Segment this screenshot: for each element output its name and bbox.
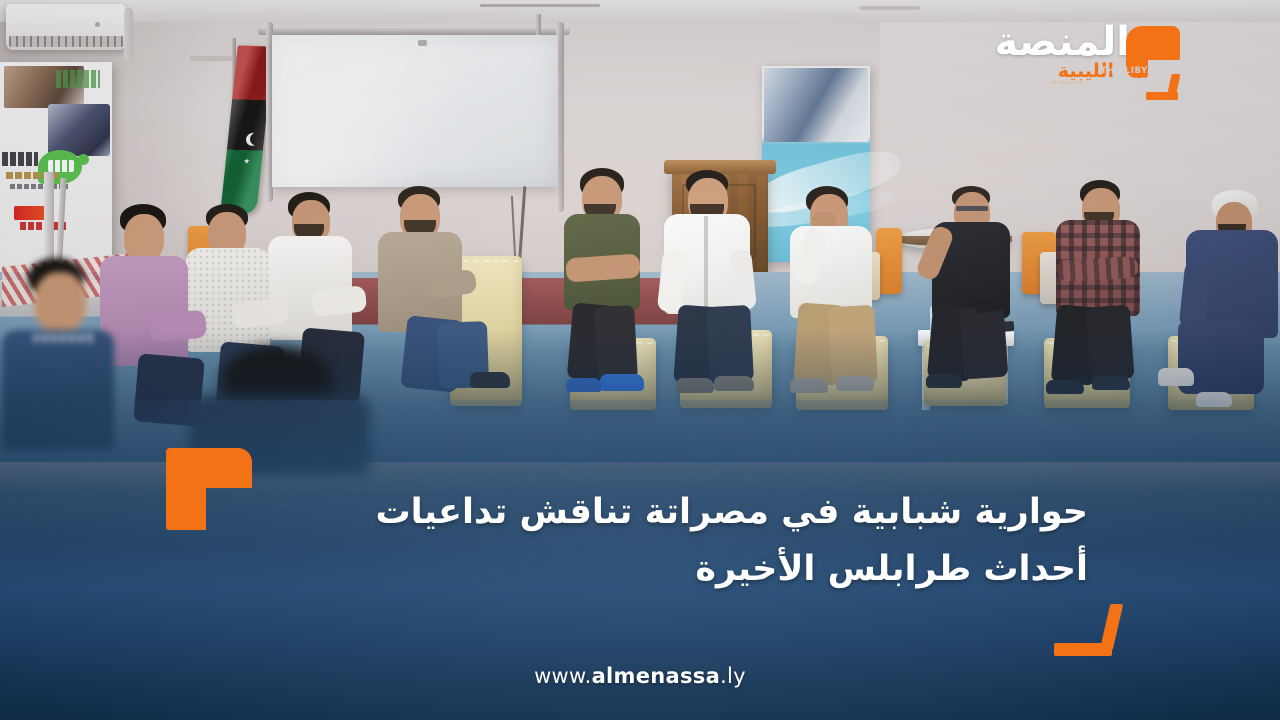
bracket-base-stroke (1054, 643, 1112, 656)
air-conditioner-icon (6, 4, 126, 50)
website-url[interactable]: www.almenassa.ly (0, 664, 1280, 688)
banner-photo-mid (48, 104, 110, 156)
ceiling-rail (480, 4, 600, 7)
alo-libya-banner (0, 62, 112, 274)
logo-latin-subtitle: THE LIBYAN PLATFORM (1101, 66, 1162, 87)
screen-glare (272, 35, 558, 187)
banner-stand-pole (44, 172, 54, 272)
logo-arabic-wordmark: المنصة (994, 22, 1130, 62)
ac-grill (9, 36, 123, 47)
bracket-vertical-stroke (166, 448, 206, 530)
screen-top-bar (258, 26, 570, 35)
ac-pipe (124, 8, 133, 60)
eyeglasses-icon (956, 206, 988, 211)
banner-arabic-title (2, 152, 38, 166)
ac-indicator-light (95, 22, 100, 27)
brand-logo[interactable]: المنصة الليبية THE LIBYAN PLATFORM almen… (1000, 16, 1178, 108)
ceiling-rail-2 (860, 6, 920, 10)
url-tld: .ly (720, 664, 746, 688)
screen-clip (418, 40, 427, 46)
headline-text: حوارية شبابية في مصراتة تناقش تداعيات أح… (268, 484, 1088, 597)
alo-logo-text (48, 160, 74, 172)
logo-hook-shape (1126, 26, 1180, 60)
logo-latin-line-2: PLATFORM (1101, 77, 1162, 88)
news-card: المنصة الليبية THE LIBYAN PLATFORM almen… (0, 0, 1280, 720)
logo-tail-base (1146, 92, 1178, 100)
head (124, 214, 164, 262)
crossed-arms (1057, 256, 1138, 282)
banner-photo-hands (764, 68, 868, 142)
url-brand: almenassa (592, 664, 721, 688)
logo-micro-text: almenassa (1051, 80, 1082, 86)
logo-latin-line-1: THE LIBYAN (1101, 66, 1162, 77)
orange-bracket-top-left-icon (166, 448, 252, 530)
crossed-arms (565, 253, 640, 282)
shirt-placket (704, 216, 708, 308)
orange-bracket-bottom-right-icon (1054, 604, 1118, 656)
url-prefix: www. (534, 664, 591, 688)
projector-screen (272, 35, 558, 187)
banner-header-logo (56, 70, 100, 88)
head (34, 272, 86, 332)
